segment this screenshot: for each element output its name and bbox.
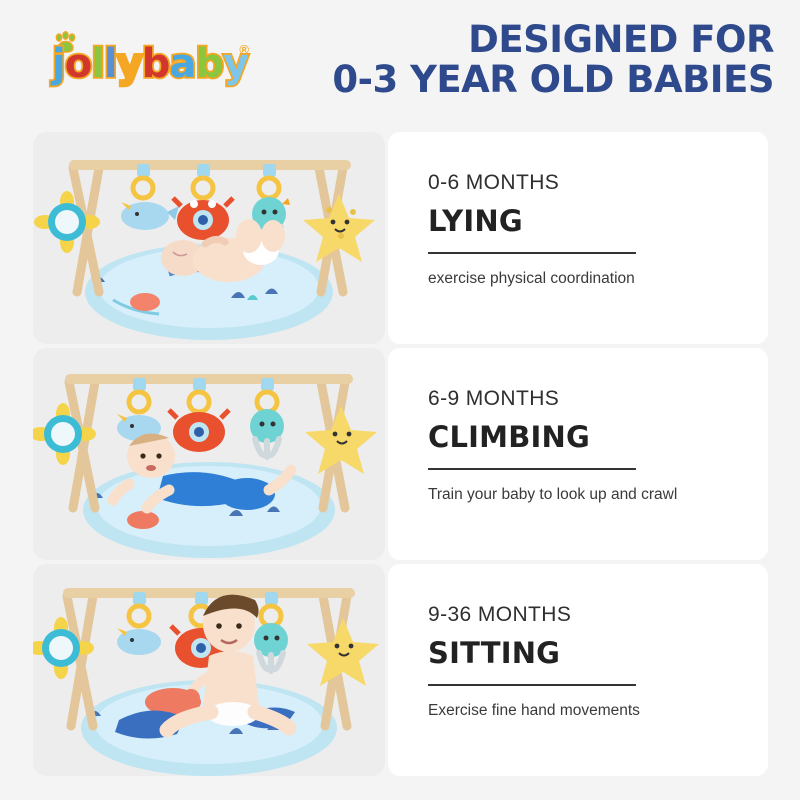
product-photo-climbing	[33, 348, 385, 560]
logo-letter: j	[52, 44, 65, 84]
activity-title: CLIMBING	[428, 423, 768, 452]
stage-text-card: 9-36 MONTHS SITTING Exercise fine hand m…	[388, 564, 768, 776]
age-range-label: 0-6 MONTHS	[428, 172, 768, 193]
play-gym-scene	[33, 564, 385, 776]
title-divider	[428, 684, 636, 686]
play-gym-scene	[33, 132, 385, 344]
headline-line-1: DESIGNED FOR	[332, 20, 774, 60]
logo-letter: b	[142, 44, 170, 84]
brand-logo: jollybaby ®	[42, 30, 247, 92]
age-range-label: 9-36 MONTHS	[428, 604, 768, 625]
play-gym-scene	[33, 348, 385, 560]
product-photo-sitting	[33, 564, 385, 776]
activity-title: LYING	[428, 207, 768, 236]
activity-title: SITTING	[428, 639, 768, 668]
page-header: jollybaby ® DESIGNED FOR 0-3 YEAR OLD BA…	[0, 0, 800, 120]
brand-logo-text: jollybaby	[52, 44, 248, 84]
logo-letter: y	[117, 44, 142, 84]
age-stage-section: 0-6 MONTHS LYING exercise physical coord…	[0, 132, 800, 344]
title-divider	[428, 468, 636, 470]
logo-letter: o	[65, 44, 91, 84]
title-divider	[428, 252, 636, 254]
stage-text-card: 0-6 MONTHS LYING exercise physical coord…	[388, 132, 768, 344]
page-headline: DESIGNED FOR 0-3 YEAR OLD BABIES	[332, 20, 774, 100]
activity-description: Exercise fine hand movements	[428, 702, 768, 721]
headline-line-2: 0-3 YEAR OLD BABIES	[332, 60, 774, 100]
logo-letter: l	[91, 44, 104, 84]
registered-trademark-symbol: ®	[239, 42, 249, 57]
age-stage-section: 6-9 MONTHS CLIMBING Train your baby to l…	[0, 348, 800, 560]
stage-text-card: 6-9 MONTHS CLIMBING Train your baby to l…	[388, 348, 768, 560]
logo-letter: l	[104, 44, 117, 84]
product-photo-lying	[33, 132, 385, 344]
age-stage-section: 9-36 MONTHS SITTING Exercise fine hand m…	[0, 564, 800, 776]
activity-description: Train your baby to look up and crawl	[428, 486, 768, 505]
activity-description: exercise physical coordination	[428, 270, 768, 289]
logo-letter: b	[195, 44, 223, 84]
age-range-label: 6-9 MONTHS	[428, 388, 768, 409]
logo-letter: a	[169, 44, 195, 84]
